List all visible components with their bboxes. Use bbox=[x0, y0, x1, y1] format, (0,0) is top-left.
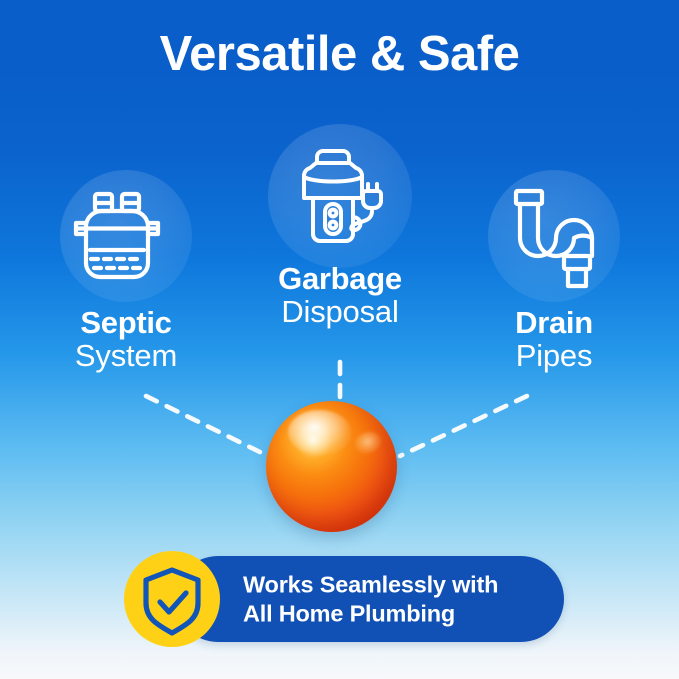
feature-label-drain-pipes: Drain Pipes bbox=[464, 306, 644, 373]
feature-word-primary: Septic bbox=[36, 306, 216, 339]
feature-word-secondary: System bbox=[36, 339, 216, 372]
connector-line-drain-pipes bbox=[400, 396, 527, 456]
feature-word-secondary: Disposal bbox=[248, 295, 432, 328]
infographic-panel: Versatile & Safe bbox=[0, 0, 679, 679]
assurance-line-1: Works Seamlessly with bbox=[243, 571, 498, 597]
icon-circle-drain-pipes bbox=[488, 170, 620, 302]
feature-word-primary: Drain bbox=[464, 306, 644, 339]
feature-label-septic: Septic System bbox=[36, 306, 216, 373]
shield-check-icon bbox=[124, 551, 220, 647]
feature-word-secondary: Pipes bbox=[464, 339, 644, 372]
feature-label-garbage-disposal: Garbage Disposal bbox=[248, 262, 432, 329]
feature-word-primary: Garbage bbox=[248, 262, 432, 295]
assurance-line-2: All Home Plumbing bbox=[243, 600, 455, 626]
assurance-banner: Works Seamlessly with All Home Plumbing bbox=[175, 556, 564, 642]
orange-gel-pod bbox=[266, 401, 397, 532]
septic-tank-icon bbox=[60, 170, 192, 302]
garbage-disposal-icon bbox=[268, 124, 412, 268]
icon-circle-garbage-disposal bbox=[268, 124, 412, 268]
gel-pod-highlight bbox=[288, 410, 351, 455]
icon-circle-septic bbox=[60, 170, 192, 302]
drain-pipe-icon bbox=[488, 170, 620, 302]
assurance-banner-text: Works Seamlessly with All Home Plumbing bbox=[243, 570, 498, 627]
connector-line-septic bbox=[146, 396, 268, 456]
page-title: Versatile & Safe bbox=[0, 28, 679, 82]
shield-check-badge bbox=[124, 551, 220, 647]
